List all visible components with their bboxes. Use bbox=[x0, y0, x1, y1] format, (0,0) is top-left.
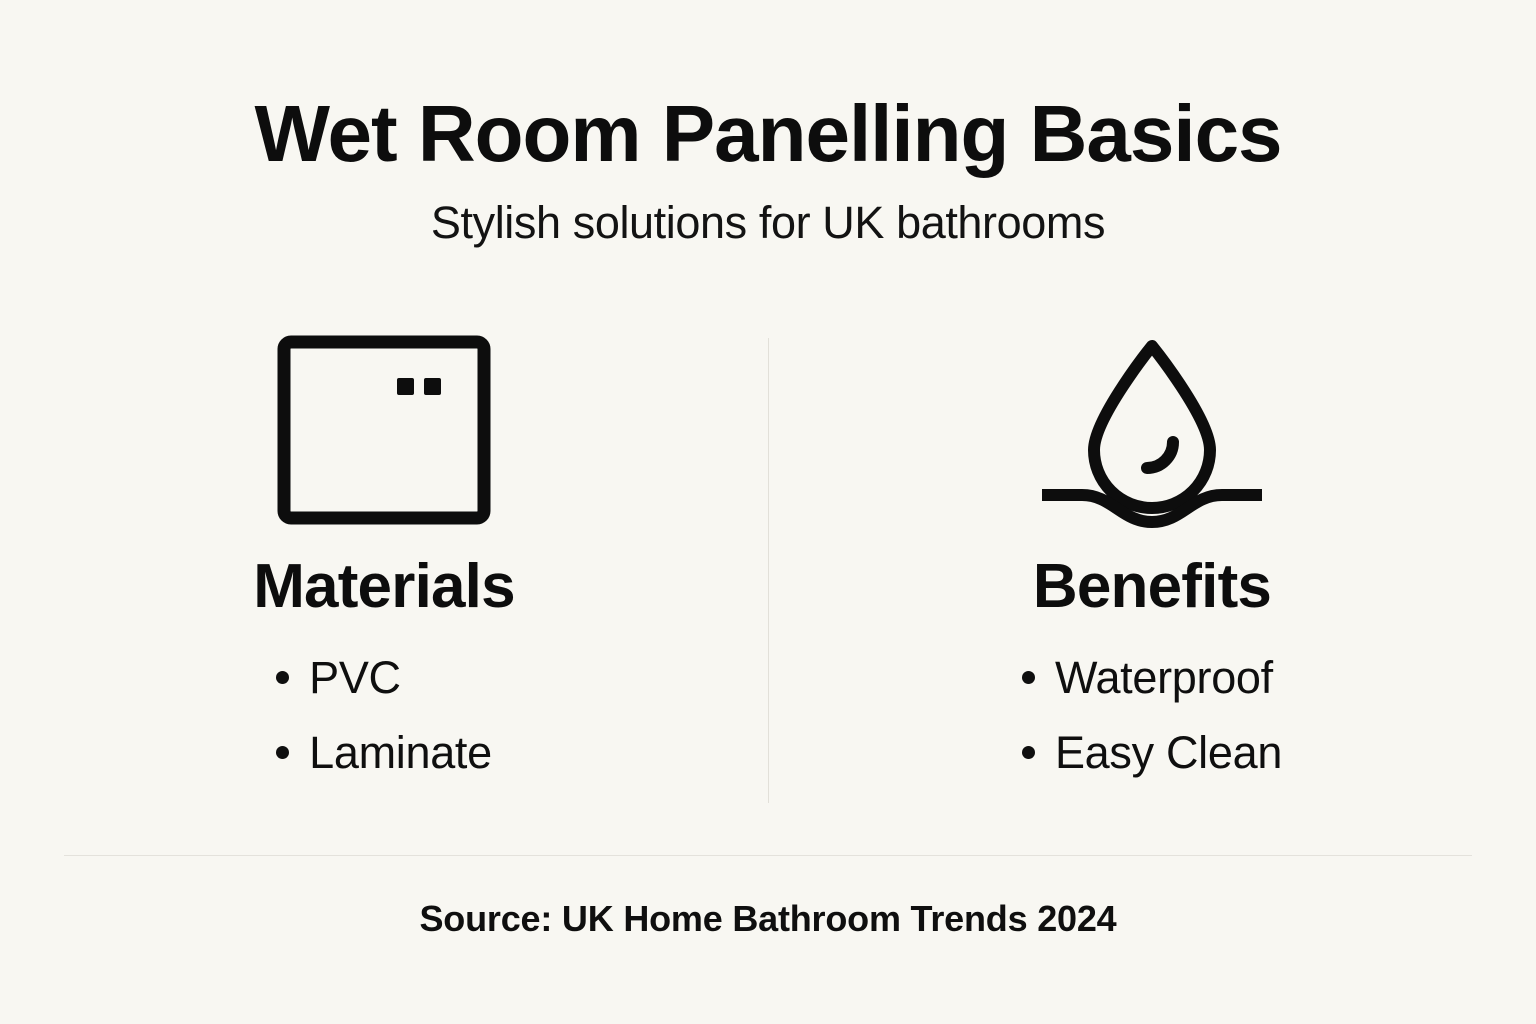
list-item-label: Laminate bbox=[309, 729, 492, 776]
column-benefits: Benefits Waterproof Easy Clean bbox=[768, 330, 1536, 777]
panel-board-icon bbox=[277, 330, 491, 530]
bullet-list-benefits: Waterproof Easy Clean bbox=[1022, 654, 1282, 777]
bullet-dot-icon bbox=[1022, 671, 1035, 684]
footer: Source: UK Home Bathroom Trends 2024 bbox=[0, 898, 1536, 940]
list-item: Easy Clean bbox=[1022, 729, 1282, 776]
list-item: Laminate bbox=[276, 729, 492, 776]
bullet-dot-icon bbox=[276, 746, 289, 759]
column-heading-materials: Materials bbox=[253, 556, 515, 618]
column-materials: Materials PVC Laminate bbox=[0, 330, 768, 777]
header: Wet Room Panelling Basics Stylish soluti… bbox=[0, 92, 1536, 248]
slide-root: Wet Room Panelling Basics Stylish soluti… bbox=[0, 0, 1536, 1024]
source-label: Source: UK Home Bathroom Trends 2024 bbox=[0, 898, 1536, 940]
list-item-label: PVC bbox=[309, 654, 401, 701]
water-drop-icon bbox=[1034, 330, 1270, 530]
list-item: Waterproof bbox=[1022, 654, 1282, 701]
column-heading-benefits: Benefits bbox=[1033, 556, 1271, 618]
bullet-list-materials: PVC Laminate bbox=[276, 654, 492, 777]
bullet-dot-icon bbox=[276, 671, 289, 684]
list-item-label: Easy Clean bbox=[1055, 729, 1282, 776]
page-subtitle: Stylish solutions for UK bathrooms bbox=[0, 198, 1536, 248]
bullet-dot-icon bbox=[1022, 746, 1035, 759]
footer-divider bbox=[64, 855, 1472, 856]
list-item: PVC bbox=[276, 654, 492, 701]
list-item-label: Waterproof bbox=[1055, 654, 1273, 701]
columns-container: Materials PVC Laminate bbox=[0, 330, 1536, 810]
page-title: Wet Room Panelling Basics bbox=[0, 92, 1536, 176]
